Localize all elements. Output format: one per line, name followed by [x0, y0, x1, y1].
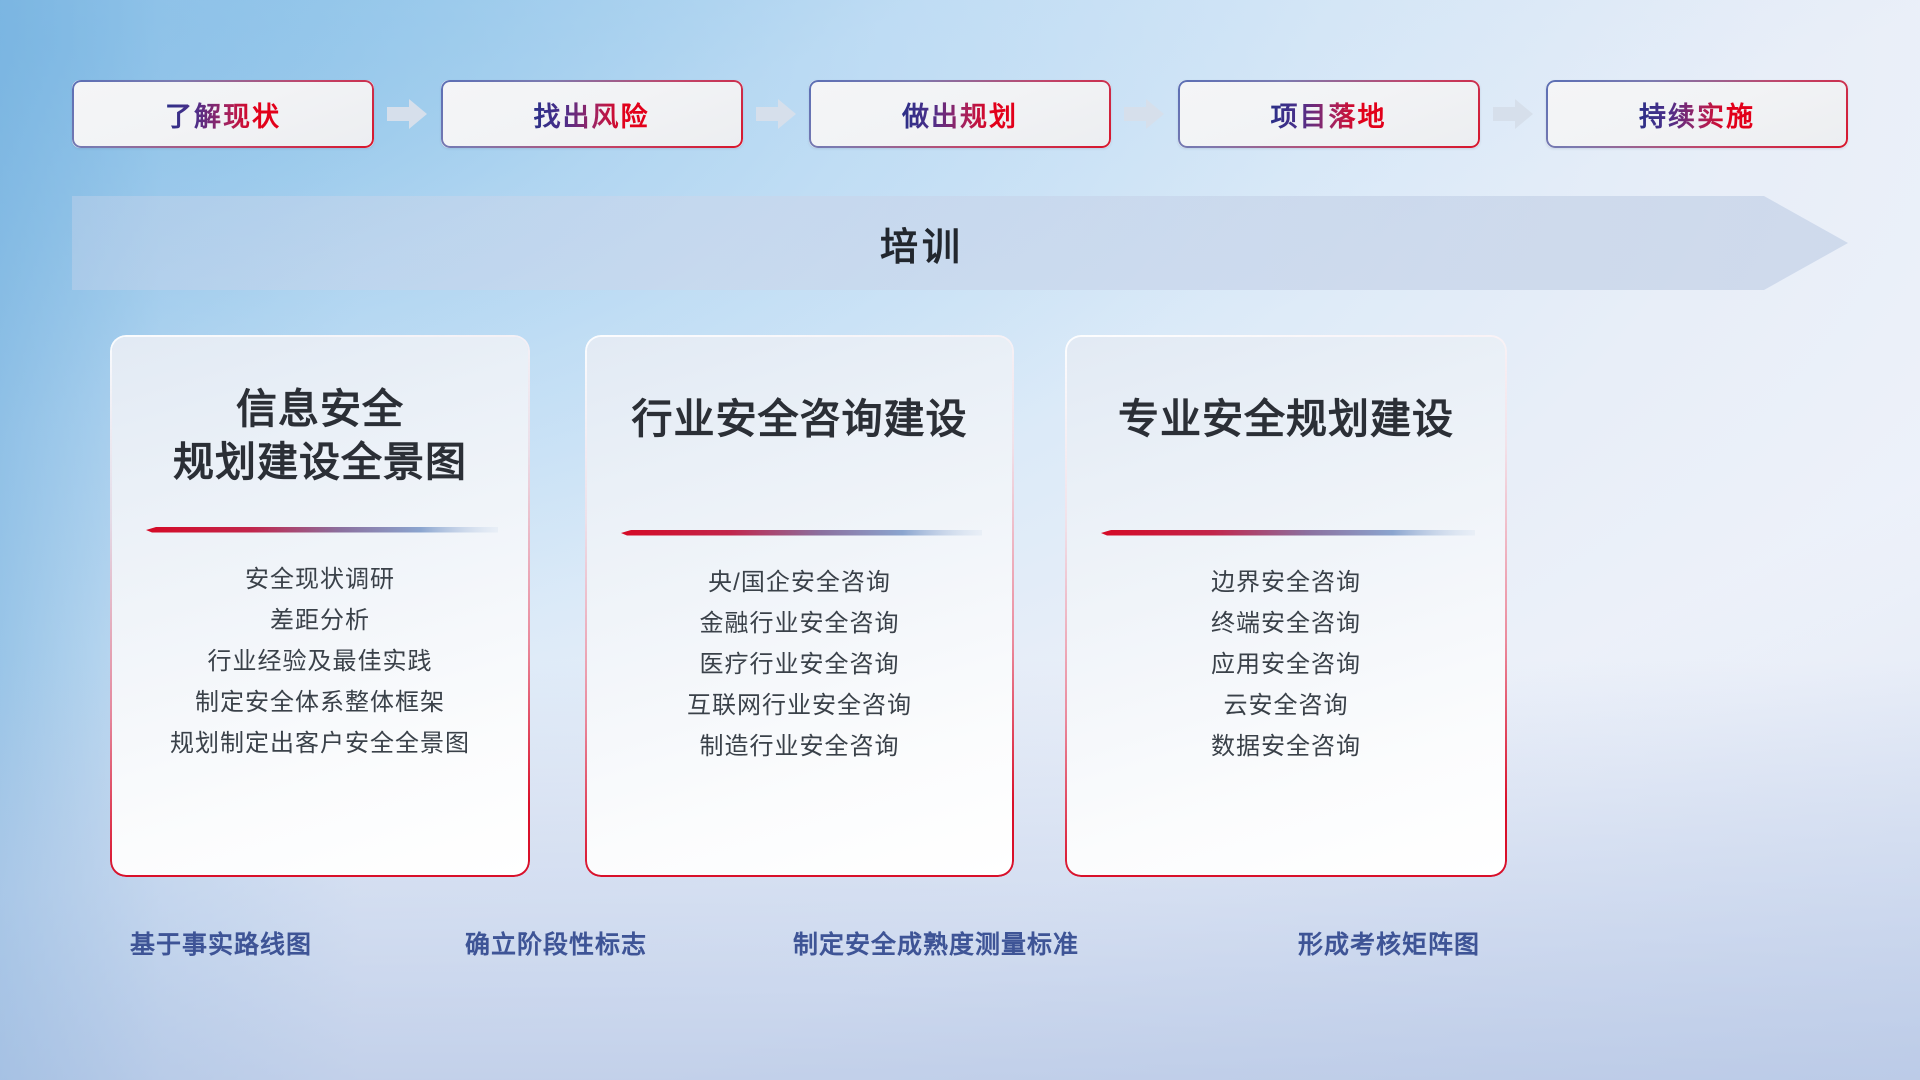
card-2-divider — [617, 530, 982, 541]
step-box-1[interactable]: 了解现状 — [72, 80, 374, 148]
card-3-item: 应用安全咨询 — [1067, 653, 1505, 677]
card-2-title-line-1: 行业安全咨询建设 — [587, 393, 1012, 446]
footnote-row: 基于事实路线图 确立阶段性标志 制定安全成熟度测量标准 形成考核矩阵图 — [0, 925, 1920, 965]
step-box-3[interactable]: 做出规划 — [809, 80, 1111, 148]
card-3-item: 终端安全咨询 — [1067, 612, 1505, 636]
card-2-item-list: 央/国企安全咨询 金融行业安全咨询 医疗行业安全咨询 互联网行业安全咨询 制造行… — [587, 571, 1012, 776]
step-box-2[interactable]: 找出风险 — [441, 80, 743, 148]
footnote-3: 制定安全成熟度测量标准 — [793, 925, 1079, 961]
step-arrow-icon-2 — [756, 99, 796, 129]
process-step-row: 了解现状 找出风险 做出规划 项目落地 持续实施 — [72, 80, 1848, 148]
training-band-label: 培训 — [72, 196, 1772, 290]
card-industry-security-consulting[interactable]: 行业安全咨询建设 央/国 — [587, 337, 1012, 875]
step-box-4[interactable]: 项目落地 — [1178, 80, 1480, 148]
card-1-item: 规划制定出客户安全全景图 — [112, 732, 528, 756]
services-card-row: 信息安全 规划建设全景图 — [112, 337, 1812, 875]
card-2-item: 金融行业安全咨询 — [587, 612, 1012, 636]
card-1-item: 差距分析 — [112, 609, 528, 633]
card-3-item: 数据安全咨询 — [1067, 735, 1505, 759]
step-label-4: 项目落地 — [1271, 95, 1387, 134]
card-3-title: 专业安全规划建设 — [1067, 393, 1505, 446]
card-3-item: 边界安全咨询 — [1067, 571, 1505, 595]
card-professional-security-planning[interactable]: 专业安全规划建设 边界安 — [1067, 337, 1505, 875]
card-2-item: 医疗行业安全咨询 — [587, 653, 1012, 677]
card-2-item: 互联网行业安全咨询 — [587, 694, 1012, 718]
card-2-item: 制造行业安全咨询 — [587, 735, 1012, 759]
step-label-1: 了解现状 — [165, 95, 281, 134]
step-arrow-icon-3 — [1124, 99, 1164, 129]
step-arrow-icon-4 — [1493, 99, 1533, 129]
card-1-item: 行业经验及最佳实践 — [112, 650, 528, 674]
training-band: 培训 — [72, 196, 1848, 290]
card-2-title: 行业安全咨询建设 — [587, 393, 1012, 446]
card-3-item-list: 边界安全咨询 终端安全咨询 应用安全咨询 云安全咨询 数据安全咨询 — [1067, 571, 1505, 776]
card-1-divider — [142, 527, 498, 538]
step-label-3: 做出规划 — [902, 95, 1018, 134]
card-1-item-list: 安全现状调研 差距分析 行业经验及最佳实践 制定安全体系整体框架 规划制定出客户… — [112, 568, 528, 773]
card-3-item: 云安全咨询 — [1067, 694, 1505, 718]
step-box-5[interactable]: 持续实施 — [1546, 80, 1848, 148]
footnote-2: 确立阶段性标志 — [465, 925, 647, 961]
card-information-security-blueprint[interactable]: 信息安全 规划建设全景图 — [112, 337, 528, 875]
card-1-title: 信息安全 规划建设全景图 — [112, 383, 528, 490]
card-3-divider — [1097, 530, 1475, 541]
step-label-5: 持续实施 — [1639, 95, 1755, 134]
step-label-2: 找出风险 — [534, 95, 650, 134]
step-arrow-icon-1 — [387, 99, 427, 129]
footnote-1: 基于事实路线图 — [130, 925, 312, 961]
footnote-4: 形成考核矩阵图 — [1298, 925, 1480, 961]
card-1-title-line-1: 信息安全 — [112, 383, 528, 436]
card-3-title-line-1: 专业安全规划建设 — [1067, 393, 1505, 446]
card-1-item: 安全现状调研 — [112, 568, 528, 592]
card-1-item: 制定安全体系整体框架 — [112, 691, 528, 715]
card-1-title-line-2: 规划建设全景图 — [112, 436, 528, 489]
card-2-item: 央/国企安全咨询 — [587, 571, 1012, 595]
